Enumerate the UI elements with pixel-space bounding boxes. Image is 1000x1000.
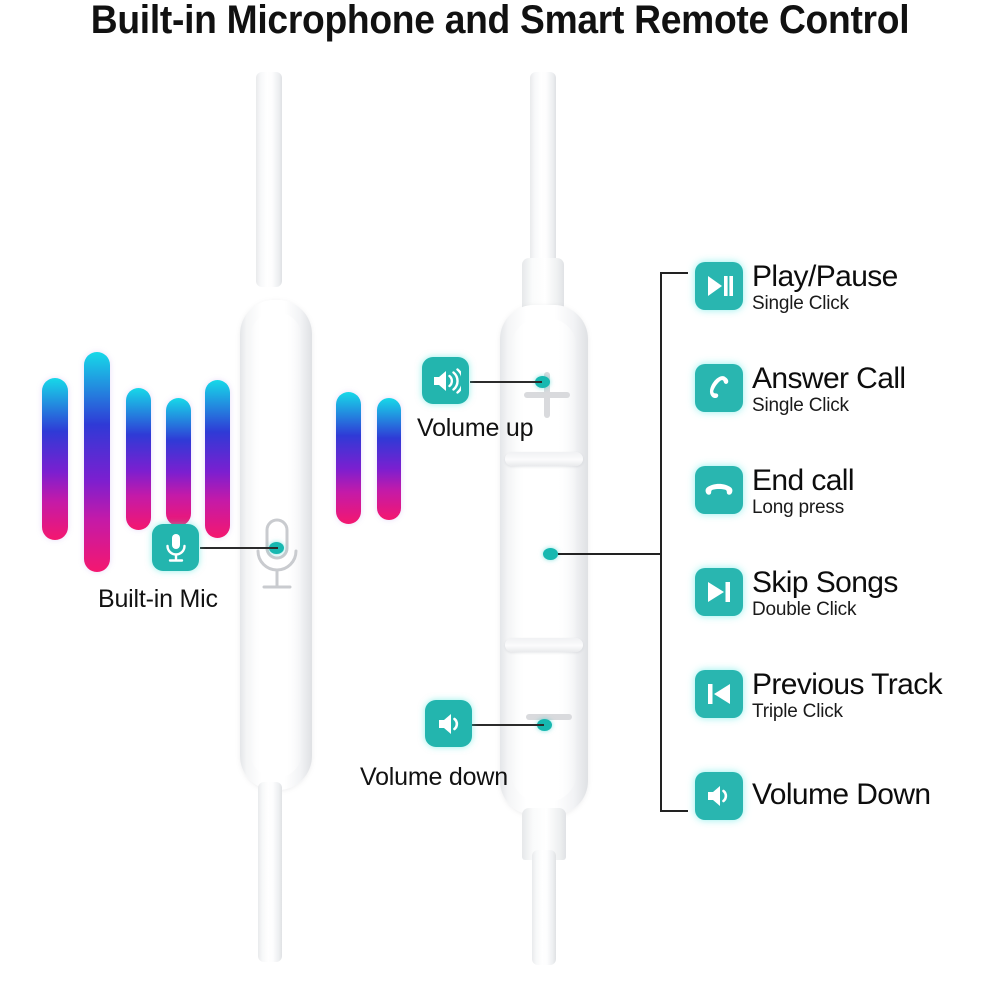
leader-line-volume-down bbox=[471, 724, 544, 726]
built-in-mic-label: Built-in Mic bbox=[98, 585, 218, 614]
legend-subtitle: Single Click bbox=[752, 293, 898, 315]
legend-title: Previous Track bbox=[752, 670, 942, 700]
leader-line-built-in-mic bbox=[200, 547, 278, 549]
legend-text-answer-call: Answer Call Single Click bbox=[752, 364, 905, 417]
legend-title: Play/Pause bbox=[752, 262, 898, 292]
play-pause-icon-box bbox=[695, 262, 743, 310]
legend-subtitle: Double Click bbox=[752, 599, 898, 621]
phone-hangup-icon bbox=[703, 480, 735, 500]
skip-forward-icon bbox=[704, 579, 734, 605]
legend-title: Volume Down bbox=[752, 780, 931, 810]
legend-title: Answer Call bbox=[752, 364, 905, 394]
cable-upper-right bbox=[530, 72, 556, 272]
built-in-mic-badge[interactable] bbox=[152, 524, 199, 571]
legend-text-previous-track: Previous Track Triple Click bbox=[752, 670, 942, 723]
legend-text-end-call: End call Long press bbox=[752, 466, 854, 519]
legend-item-play-pause[interactable]: Play/Pause Single Click bbox=[695, 262, 898, 315]
legend-item-skip-songs[interactable]: Skip Songs Double Click bbox=[695, 568, 898, 621]
legend-subtitle: Long press bbox=[752, 497, 854, 519]
remote-seam-lower bbox=[505, 638, 583, 652]
cable-lower-left bbox=[258, 782, 282, 962]
volume-down-badge[interactable] bbox=[425, 700, 472, 747]
sound-bar bbox=[42, 378, 68, 540]
speaker-wave-icon bbox=[435, 711, 463, 737]
legend-item-previous-track[interactable]: Previous Track Triple Click bbox=[695, 670, 942, 723]
infographic-canvas: Built-in Microphone and Smart Remote Con… bbox=[0, 0, 1000, 1000]
legend-title: Skip Songs bbox=[752, 568, 898, 598]
sound-bar bbox=[336, 392, 361, 524]
minus-glyph-horizontal bbox=[526, 714, 572, 720]
cable-lower-right bbox=[532, 850, 556, 965]
legend-text-volume-down: Volume Down bbox=[752, 772, 931, 811]
speaker-wave-icon bbox=[704, 783, 734, 809]
legend-subtitle: Single Click bbox=[752, 395, 905, 417]
volume-up-badge[interactable] bbox=[422, 357, 469, 404]
legend-text-skip-songs: Skip Songs Double Click bbox=[752, 568, 898, 621]
legend-item-end-call[interactable]: End call Long press bbox=[695, 466, 854, 519]
sound-bar bbox=[205, 380, 230, 538]
speaker-wave-icon-box bbox=[695, 772, 743, 820]
sound-bar bbox=[166, 398, 191, 526]
sound-bar bbox=[126, 388, 151, 530]
sound-bar bbox=[84, 352, 110, 572]
microphone-outline-icon bbox=[252, 518, 302, 596]
skip-back-icon-box bbox=[695, 670, 743, 718]
page-title: Built-in Microphone and Smart Remote Con… bbox=[35, 0, 965, 43]
volume-up-label: Volume up bbox=[417, 414, 533, 443]
center-button-hotspot-dot bbox=[543, 548, 558, 560]
play-pause-icon bbox=[704, 273, 734, 299]
control-legend: Play/Pause Single Click Answer Call Sing… bbox=[660, 248, 1000, 838]
remote-seam-upper bbox=[505, 452, 583, 466]
legend-subtitle: Triple Click bbox=[752, 701, 942, 723]
skip-forward-icon-box bbox=[695, 568, 743, 616]
legend-text-play-pause: Play/Pause Single Click bbox=[752, 262, 898, 315]
leader-line-volume-up bbox=[470, 381, 542, 383]
legend-item-volume-down[interactable]: Volume Down bbox=[695, 772, 931, 820]
bracket-arm-middle bbox=[558, 553, 662, 555]
sound-bar bbox=[377, 398, 401, 520]
legend-item-answer-call[interactable]: Answer Call Single Click bbox=[695, 364, 905, 417]
microphone-icon bbox=[164, 533, 188, 563]
volume-down-label: Volume down bbox=[360, 763, 508, 792]
phone-answer-icon-box bbox=[695, 364, 743, 412]
phone-hangup-icon-box bbox=[695, 466, 743, 514]
skip-back-icon bbox=[704, 681, 734, 707]
cable-upper-left bbox=[256, 72, 282, 287]
legend-title: End call bbox=[752, 466, 854, 496]
speaker-waves-icon bbox=[431, 368, 461, 394]
phone-answer-icon bbox=[705, 374, 733, 402]
